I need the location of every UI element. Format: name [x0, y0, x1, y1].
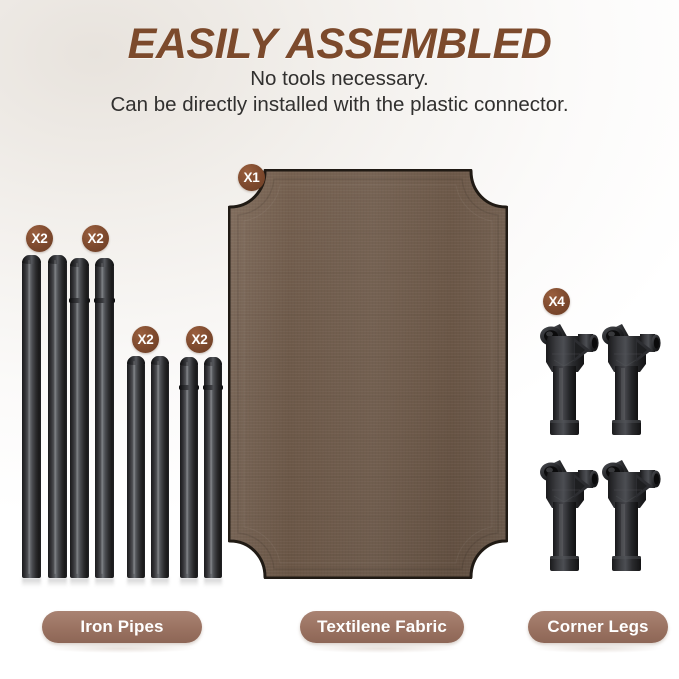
- iron-pipe-jointed-long-1: [70, 258, 89, 578]
- pipe-reflection: [95, 578, 114, 587]
- iron-pipe-jointed-short-1: [180, 357, 198, 578]
- subtitle-block: No tools necessary. Can be directly inst…: [0, 66, 679, 118]
- badge-corner-legs: X4: [543, 288, 570, 315]
- subtitle-line-1: No tools necessary.: [0, 66, 679, 92]
- badge-long-pipes: X2: [26, 225, 53, 252]
- label-textilene-fabric: Textilene Fabric: [300, 611, 464, 643]
- corner-leg-2: [600, 316, 662, 438]
- pipe-reflection: [204, 578, 222, 587]
- corner-leg-3: [538, 452, 600, 574]
- pipe-joint: [94, 298, 115, 303]
- pipe-joint: [179, 385, 199, 390]
- badge-jointed-long: X2: [82, 225, 109, 252]
- subtitle-line-2: Can be directly installed with the plast…: [0, 92, 679, 118]
- label-iron-pipes: Iron Pipes: [42, 611, 202, 643]
- pill-shadow: [306, 644, 458, 653]
- pipe-reflection: [22, 578, 41, 587]
- corner-leg-graphic: [600, 452, 662, 574]
- iron-pipe-jointed-short-2: [204, 357, 222, 578]
- pipe-reflection: [151, 578, 169, 587]
- label-corner-legs: Corner Legs: [528, 611, 668, 643]
- iron-pipe-short-1: [127, 356, 145, 578]
- corner-leg-1: [538, 316, 600, 438]
- iron-pipe-short-2: [151, 356, 169, 578]
- page-title: EASILY ASSEMBLED: [0, 21, 679, 67]
- iron-pipe-jointed-long-2: [95, 258, 114, 578]
- iron-pipe-long-2: [48, 255, 67, 578]
- corner-leg-graphic: [600, 316, 662, 438]
- product-parts-infographic: EASILY ASSEMBLED No tools necessary. Can…: [0, 0, 679, 679]
- pipe-joint: [203, 385, 223, 390]
- fabric-panel-graphic: [228, 169, 508, 579]
- pill-shadow: [48, 644, 196, 653]
- pipe-reflection: [70, 578, 89, 587]
- pipe-reflection: [180, 578, 198, 587]
- corner-leg-graphic: [538, 452, 600, 574]
- badge-short-pipes: X2: [132, 326, 159, 353]
- pipe-reflection: [127, 578, 145, 587]
- textilene-fabric: [228, 169, 508, 579]
- badge-jointed-short: X2: [186, 326, 213, 353]
- pill-shadow: [534, 644, 662, 653]
- iron-pipe-long-1: [22, 255, 41, 578]
- badge-fabric: X1: [238, 164, 265, 191]
- pipe-joint: [69, 298, 90, 303]
- pipe-reflection: [48, 578, 67, 587]
- corner-leg-graphic: [538, 316, 600, 438]
- corner-leg-4: [600, 452, 662, 574]
